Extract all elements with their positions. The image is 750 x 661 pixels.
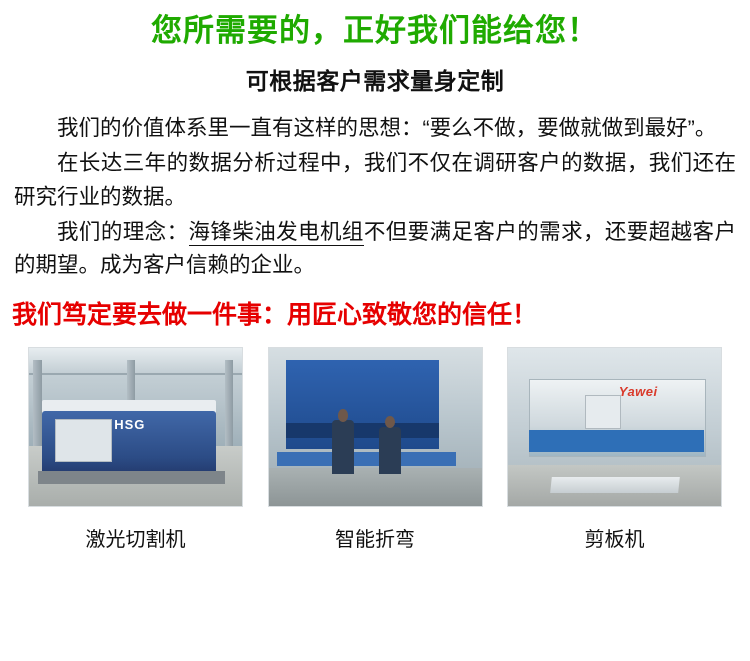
gallery-item-2: 智能折弯 bbox=[268, 347, 483, 552]
gallery-caption-2: 智能折弯 bbox=[268, 507, 483, 552]
page-headline: 您所需要的，正好我们能给您！ bbox=[0, 0, 750, 48]
paragraph-3: 我们的理念：海锋柴油发电机组不但要满足客户的需求，还要超越客户的期望。成为客户信… bbox=[14, 216, 736, 283]
gallery-item-3: Yawei 剪板机 bbox=[507, 347, 722, 552]
slogan-text: 我们笃定要去做一件事：用匠心致敬您的信任！ bbox=[0, 285, 750, 331]
promo-page: 您所需要的，正好我们能给您！ 可根据客户需求量身定制 我们的价值体系里一直有这样… bbox=[0, 0, 750, 661]
machine-brand-label: Yawei bbox=[619, 384, 658, 399]
photo-gallery: HSG 激光切割机 智能折弯 bbox=[0, 331, 750, 552]
paragraph-3-brand: 海锋柴油发电机组 bbox=[189, 220, 364, 246]
body-copy: 我们的价值体系里一直有这样的思想：“要么不做，要做就做到最好”。 在长达三年的数… bbox=[0, 96, 750, 283]
paragraph-2: 在长达三年的数据分析过程中，我们不仅在调研客户的数据，我们还在研究行业的数据。 bbox=[14, 147, 736, 214]
press-brake-machine-photo bbox=[268, 347, 483, 507]
paragraph-3-lead: 我们的理念： bbox=[57, 220, 189, 244]
gallery-caption-3: 剪板机 bbox=[507, 507, 722, 552]
gallery-caption-1: 激光切割机 bbox=[28, 507, 243, 552]
gallery-item-1: HSG 激光切割机 bbox=[28, 347, 243, 552]
machine-brand-label: HSG bbox=[114, 417, 145, 432]
paragraph-1: 我们的价值体系里一直有这样的思想：“要么不做，要做就做到最好”。 bbox=[14, 112, 736, 145]
shearing-machine-photo: Yawei bbox=[507, 347, 722, 507]
page-subheadline: 可根据客户需求量身定制 bbox=[0, 48, 750, 96]
laser-cutting-machine-photo: HSG bbox=[28, 347, 243, 507]
